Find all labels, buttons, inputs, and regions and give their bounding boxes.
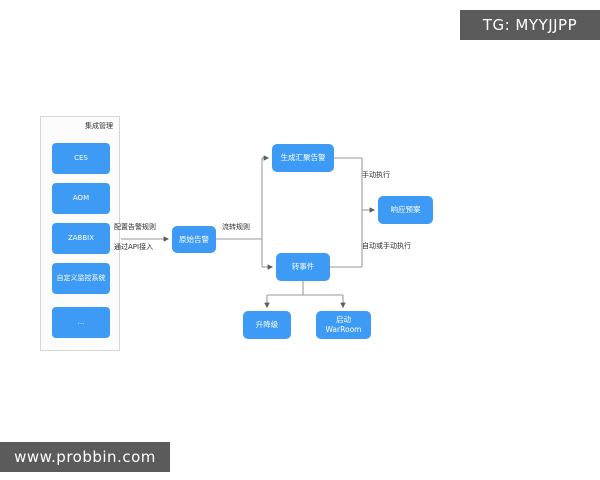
- node-raw-alert[interactable]: 原始告警: [172, 226, 216, 253]
- site-watermark-badge: www.probbin.com: [0, 442, 170, 472]
- sidebar-item-aom[interactable]: AOM: [52, 183, 110, 214]
- node-to-incident[interactable]: 转事件: [276, 253, 330, 281]
- sidebar-item-custom-monitoring[interactable]: 自定义监控系统: [52, 263, 110, 294]
- edge-label-auto-or-manual-exec: 自动或手动执行: [362, 241, 411, 251]
- sidebar-item-ces[interactable]: CES: [52, 143, 110, 174]
- edge-label-configure-rule: 配置告警规则: [114, 222, 156, 232]
- diagram-canvas: 集成管理 CES AOM ZABBIX 自定义监控系统 ... 原始告警 生成汇…: [0, 0, 600, 480]
- sidebar-item-zabbix[interactable]: ZABBIX: [52, 223, 110, 254]
- node-escalation[interactable]: 升降级: [243, 311, 291, 339]
- node-start-warroom[interactable]: 启动 WarRoom: [316, 311, 371, 339]
- panel-title: 集成管理: [41, 121, 113, 131]
- sidebar-item-more[interactable]: ...: [52, 307, 110, 338]
- node-response-plan[interactable]: 响应预案: [378, 196, 433, 224]
- edge-label-api-ingest: 通过API接入: [114, 242, 153, 252]
- integration-management-panel: 集成管理 CES AOM ZABBIX 自定义监控系统 ...: [40, 116, 120, 351]
- edge-label-manual-exec: 手动执行: [362, 170, 390, 180]
- telegram-watermark-badge: TG: MYYJJPP: [460, 10, 600, 40]
- edge-label-flow-rule: 流转规则: [222, 222, 250, 232]
- node-aggregated-alert[interactable]: 生成汇聚告警: [272, 144, 334, 172]
